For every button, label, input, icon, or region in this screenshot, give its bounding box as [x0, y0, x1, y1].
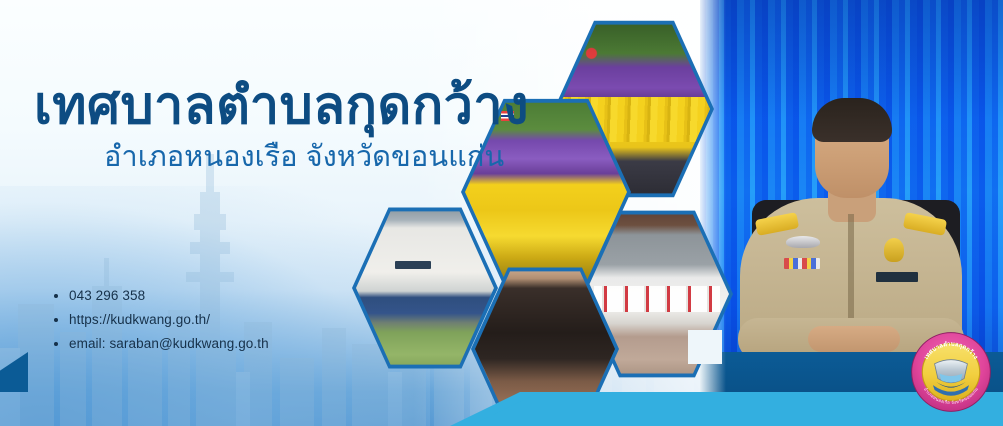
seal-emblem-icon: เทศบาลตำบลกุดกว้าง อำเภอหนองเรือ จังหวัด… [910, 331, 992, 413]
name-tag [876, 272, 918, 282]
page-subtitle: อำเภอหนองเรือ จังหวัดขอนแก่น [104, 140, 634, 175]
contact-item-email[interactable]: email: saraban@kudkwang.go.th [52, 336, 269, 351]
bullet-icon [54, 318, 58, 322]
bullet-icon [54, 294, 58, 298]
contact-item-website[interactable]: https://kudkwang.go.th/ [52, 312, 269, 327]
contact-list: 043 296 358 https://kudkwang.go.th/ emai… [52, 288, 269, 360]
wing-insignia-icon [786, 236, 820, 248]
hands [808, 326, 900, 352]
contact-phone-text: 043 296 358 [69, 288, 145, 303]
page-title: เทศบาลตำบลกุดกว้าง [34, 78, 634, 134]
contact-email-text[interactable]: email: saraban@kudkwang.go.th [69, 336, 269, 351]
title-block: เทศบาลตำบลกุดกว้าง อำเภอหนองเรือ จังหวัด… [34, 78, 634, 175]
contact-website-text[interactable]: https://kudkwang.go.th/ [69, 312, 210, 327]
municipality-banner: เทศบาลตำบลกุดกว้าง อำเภอหนองเรือ จังหวัด… [0, 0, 1003, 426]
panel-notch [688, 330, 722, 364]
bullet-icon [54, 342, 58, 346]
hair [812, 98, 892, 142]
gold-crest-icon [884, 238, 904, 262]
municipal-seal: เทศบาลตำบลกุดกว้าง อำเภอหนองเรือ จังหวัด… [910, 331, 992, 413]
hexagon-photo-collage [336, 0, 736, 426]
collage-photo-frame [356, 209, 494, 367]
photo-staff-group-building [356, 209, 494, 367]
contact-item-phone: 043 296 358 [52, 288, 269, 303]
service-ribbons-icon [784, 258, 820, 269]
